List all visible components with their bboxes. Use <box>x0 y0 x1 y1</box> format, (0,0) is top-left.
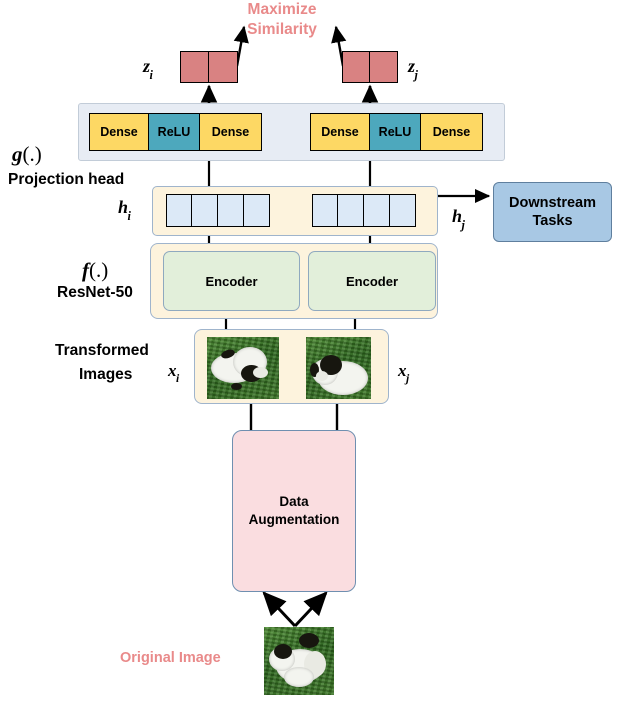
xj-label: xj <box>398 361 410 383</box>
downstream-line1: Downstream <box>509 194 596 212</box>
projection-head-branch-i: Dense ReLU Dense <box>89 113 262 151</box>
dog-shape <box>284 667 314 687</box>
hj-cell <box>338 194 364 227</box>
f-argument: (.) <box>89 258 108 282</box>
f-symbol: f <box>82 258 89 282</box>
hi-cell <box>192 194 218 227</box>
encoder-function-symbol: f(.) <box>82 258 108 283</box>
hj-cell <box>364 194 390 227</box>
hj-subscript: j <box>462 218 465 232</box>
dense-block-j-1: Dense <box>310 113 370 151</box>
relu-block-j: ReLU <box>370 113 421 151</box>
zi-cell <box>209 51 238 83</box>
data-augmentation-box[interactable]: Data Augmentation <box>232 430 356 592</box>
dog-dark-patch <box>274 644 292 659</box>
dense-block-j-2: Dense <box>421 113 483 151</box>
downstream-line2: Tasks <box>509 212 596 230</box>
zj-label: zj <box>408 56 418 81</box>
objective-label-line1: Maximize <box>230 2 334 18</box>
dog-dark-patch <box>231 383 242 390</box>
zi-vector <box>180 51 238 83</box>
hj-vector <box>312 194 416 227</box>
hi-cell <box>244 194 270 227</box>
projection-head-label: Projection head <box>8 172 124 188</box>
projection-head-branch-j: Dense ReLU Dense <box>310 113 483 151</box>
hj-symbol: h <box>452 206 462 226</box>
encoder-box-j[interactable]: Encoder <box>308 251 436 311</box>
hj-cell <box>312 194 338 227</box>
zi-cell <box>180 51 209 83</box>
encoder-label: ResNet-50 <box>57 285 133 301</box>
hj-cell <box>390 194 416 227</box>
zi-symbol: z <box>143 56 150 76</box>
zi-label: zi <box>143 56 153 81</box>
hi-cell <box>166 194 192 227</box>
xj-subscript: j <box>406 372 409 385</box>
hi-label: hi <box>118 197 131 222</box>
g-symbol: g <box>12 142 23 166</box>
original-image-label: Original Image <box>120 651 221 666</box>
zj-vector <box>342 51 398 83</box>
relu-block-i: ReLU <box>149 113 200 151</box>
objective-label-line2: Similarity <box>230 22 334 38</box>
dog-light-patch <box>253 367 268 378</box>
transformed-photo-j <box>306 337 371 399</box>
diagram-canvas: Maximize Similarity zi zj Dense ReLU Den… <box>0 0 622 701</box>
augmentation-line2: Augmentation <box>249 511 340 529</box>
original-photo <box>264 627 334 695</box>
dense-block-i-2: Dense <box>200 113 262 151</box>
transformed-images-label-line1: Transformed <box>55 343 149 359</box>
projection-function-symbol: g(.) <box>12 142 42 167</box>
zj-symbol: z <box>408 56 415 76</box>
downstream-tasks-box[interactable]: Downstream Tasks <box>493 182 612 242</box>
zj-cell <box>370 51 398 83</box>
arrow-original-to-augmentation-right <box>295 593 326 626</box>
zj-subscript: j <box>415 68 418 82</box>
transformed-images-label-line2: Images <box>79 367 132 383</box>
hi-symbol: h <box>118 197 128 217</box>
dog-light-patch <box>316 371 328 381</box>
zj-cell <box>342 51 370 83</box>
hj-label: hj <box>452 206 465 231</box>
hi-vector <box>166 194 270 227</box>
augmentation-line1: Data <box>249 493 340 511</box>
dog-dark-patch <box>299 633 319 648</box>
transformed-photo-i <box>207 337 279 399</box>
zi-subscript: i <box>150 68 153 82</box>
xi-label: xi <box>168 361 180 383</box>
xi-subscript: i <box>176 372 179 385</box>
hi-subscript: i <box>128 209 131 223</box>
encoder-box-i[interactable]: Encoder <box>163 251 300 311</box>
hi-cell <box>218 194 244 227</box>
g-argument: (.) <box>23 142 42 166</box>
dense-block-i-1: Dense <box>89 113 149 151</box>
arrow-original-to-augmentation-left <box>264 593 295 626</box>
